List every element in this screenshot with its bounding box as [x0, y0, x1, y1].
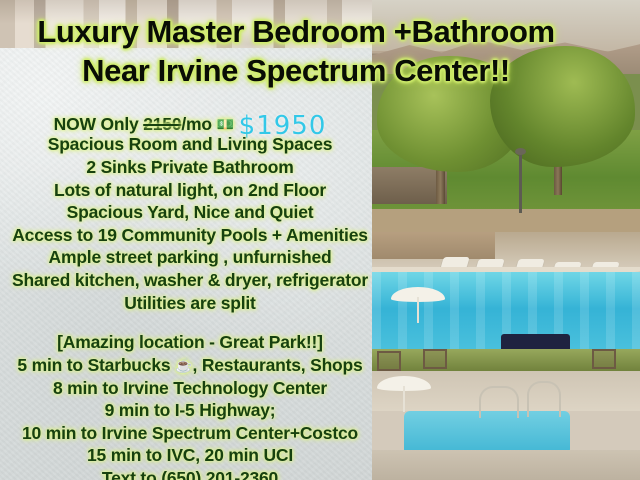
old-price: 2150 — [143, 114, 181, 134]
pool-chair — [377, 351, 401, 371]
price-period: /mo — [181, 114, 212, 134]
coffee-icon: ☕ — [175, 357, 192, 373]
starbucks-line: 5 min to Starbucks ☕, Restaurants, Shops — [0, 357, 380, 375]
feature-line: Spacious Yard, Nice and Quiet — [0, 204, 380, 222]
ad-text-panel: Luxury Master Bedroom +Bathroom Near Irv… — [0, 0, 380, 480]
pool-chair — [423, 349, 447, 369]
starbucks-text-before: 5 min to Starbucks — [17, 355, 175, 375]
distance-line: 10 min to Irvine Spectrum Center+Costco — [0, 425, 380, 443]
contact-line: Text to (650) 201-2360 — [0, 470, 380, 480]
park-lamp-post — [519, 153, 522, 213]
listing-flyer-image: Luxury Master Bedroom +Bathroom Near Irv… — [0, 0, 640, 480]
feature-line: Shared kitchen, washer & dryer, refriger… — [0, 272, 380, 290]
distance-line: 8 min to Irvine Technology Center — [0, 380, 380, 398]
feature-line: Lots of natural light, on 2nd Floor — [0, 182, 380, 200]
headline-line-2: Near Irvine Spectrum Center!! — [0, 55, 592, 88]
headline-line-1: Luxury Master Bedroom +Bathroom — [0, 16, 592, 49]
pool-handrail — [479, 386, 519, 418]
feature-line: 2 Sinks Private Bathroom — [0, 159, 380, 177]
feature-line: Spacious Room and Living Spaces — [0, 136, 380, 154]
distance-line: 9 min to I-5 Highway; — [0, 402, 380, 420]
pool-chair — [592, 349, 616, 369]
feature-line: Access to 19 Community Pools + Amenities — [0, 227, 380, 245]
pool-photo — [372, 232, 640, 480]
distance-line: 15 min to IVC, 20 min UCI — [0, 447, 380, 465]
feature-line: Ample street parking , unfurnished — [0, 249, 380, 267]
starbucks-text-after: , Restaurants, Shops — [193, 355, 363, 375]
pool-handrail — [527, 381, 561, 417]
money-icon: 💵 — [217, 116, 234, 132]
feature-line: Utilities are split — [0, 295, 380, 313]
pool-lower-deck — [372, 450, 640, 480]
price-prefix: NOW Only — [54, 114, 144, 134]
pool-wall — [372, 232, 495, 259]
location-header: [Amazing location - Great Park!!] — [0, 334, 380, 352]
